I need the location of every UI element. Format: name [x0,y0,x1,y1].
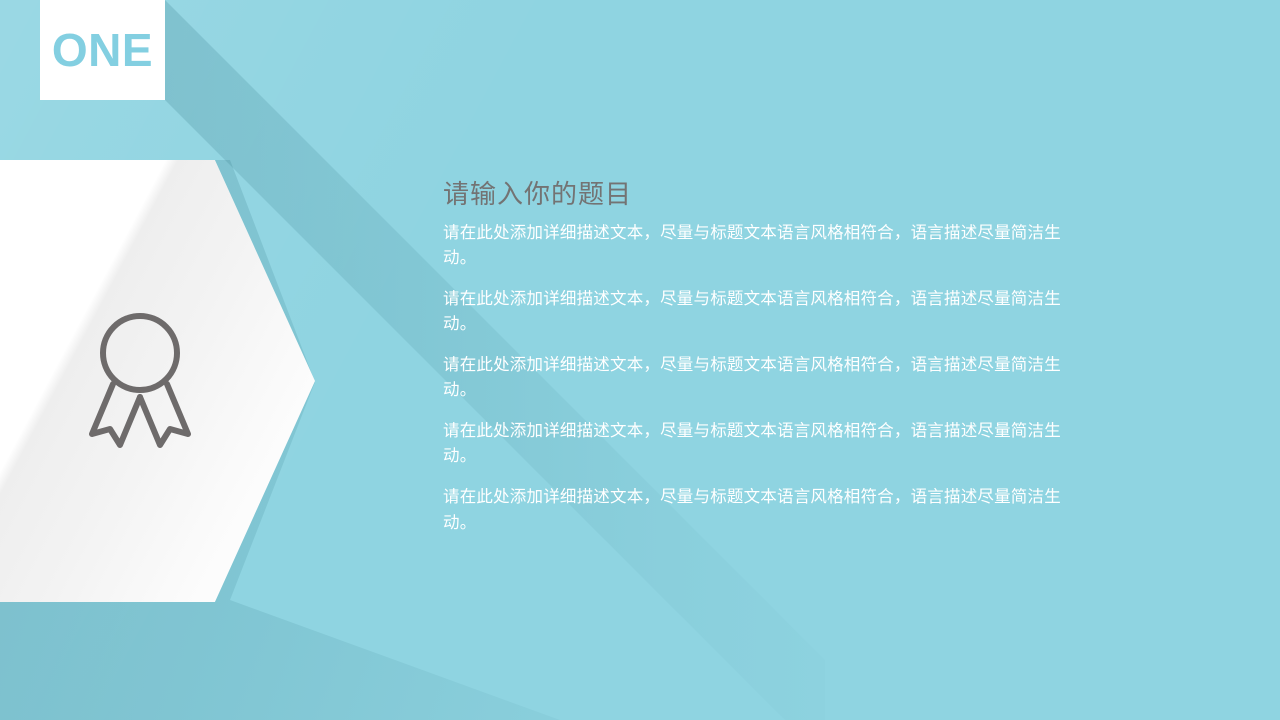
page-title: 请输入你的题目 [443,178,1075,211]
section-number-badge[interactable]: ONE [40,0,165,100]
presentation-slide: ONE 请输入你的题目 请在此处添加详细描述文本，尽量与标题文本语言风格相符合，… [0,0,1280,720]
award-ribbon-icon [80,308,200,458]
body-paragraph: 请在此处添加详细描述文本，尽量与标题文本语言风格相符合，语言描述尽量简洁生动。 [443,353,1075,404]
content-text-column: 请输入你的题目 请在此处添加详细描述文本，尽量与标题文本语言风格相符合，语言描述… [443,178,1075,536]
hexagon-icon-card[interactable] [0,160,315,602]
body-paragraph: 请在此处添加详细描述文本，尽量与标题文本语言风格相符合，语言描述尽量简洁生动。 [443,287,1075,338]
body-paragraph: 请在此处添加详细描述文本，尽量与标题文本语言风格相符合，语言描述尽量简洁生动。 [443,485,1075,536]
body-paragraph: 请在此处添加详细描述文本，尽量与标题文本语言风格相符合，语言描述尽量简洁生动。 [443,221,1075,272]
body-paragraph: 请在此处添加详细描述文本，尽量与标题文本语言风格相符合，语言描述尽量简洁生动。 [443,419,1075,470]
section-number-label: ONE [52,27,153,73]
